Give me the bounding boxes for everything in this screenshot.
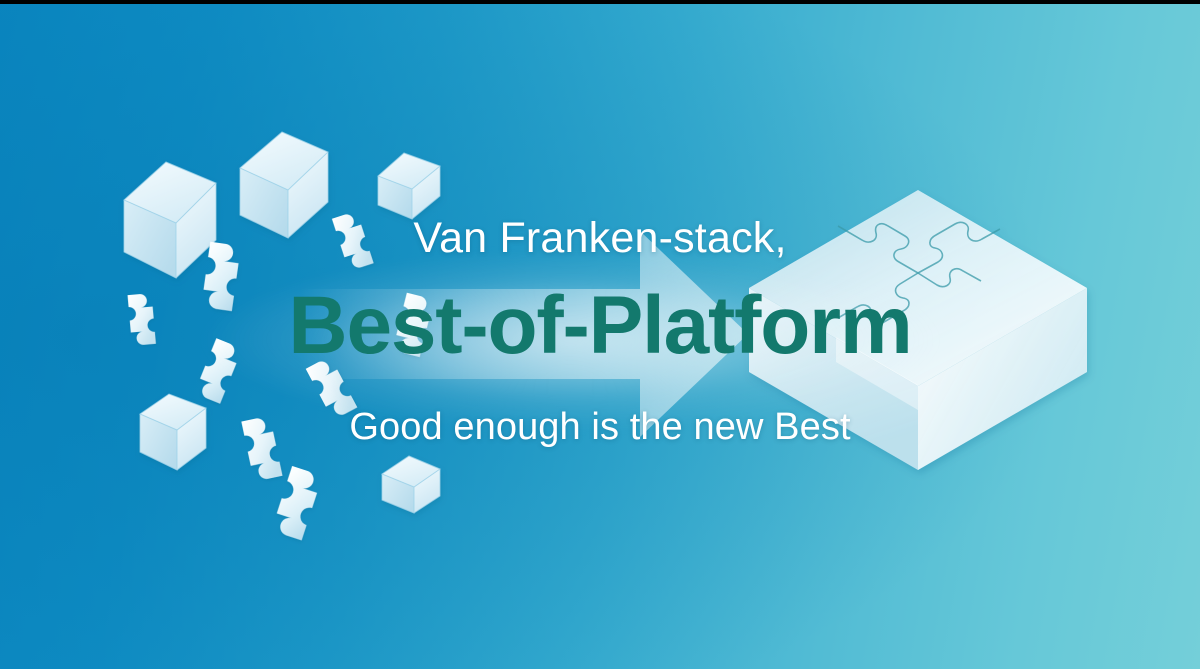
page-title: Best-of-Platform (0, 285, 1200, 367)
letterbox-bar-top (0, 0, 1200, 4)
slide-canvas: Van Franken-stack, Best-of-Platform Good… (0, 0, 1200, 669)
text-block: Van Franken-stack, Best-of-Platform Good… (0, 0, 1200, 669)
subtitle-text: Good enough is the new Best (0, 406, 1200, 449)
eyebrow-text: Van Franken-stack, (0, 214, 1200, 263)
